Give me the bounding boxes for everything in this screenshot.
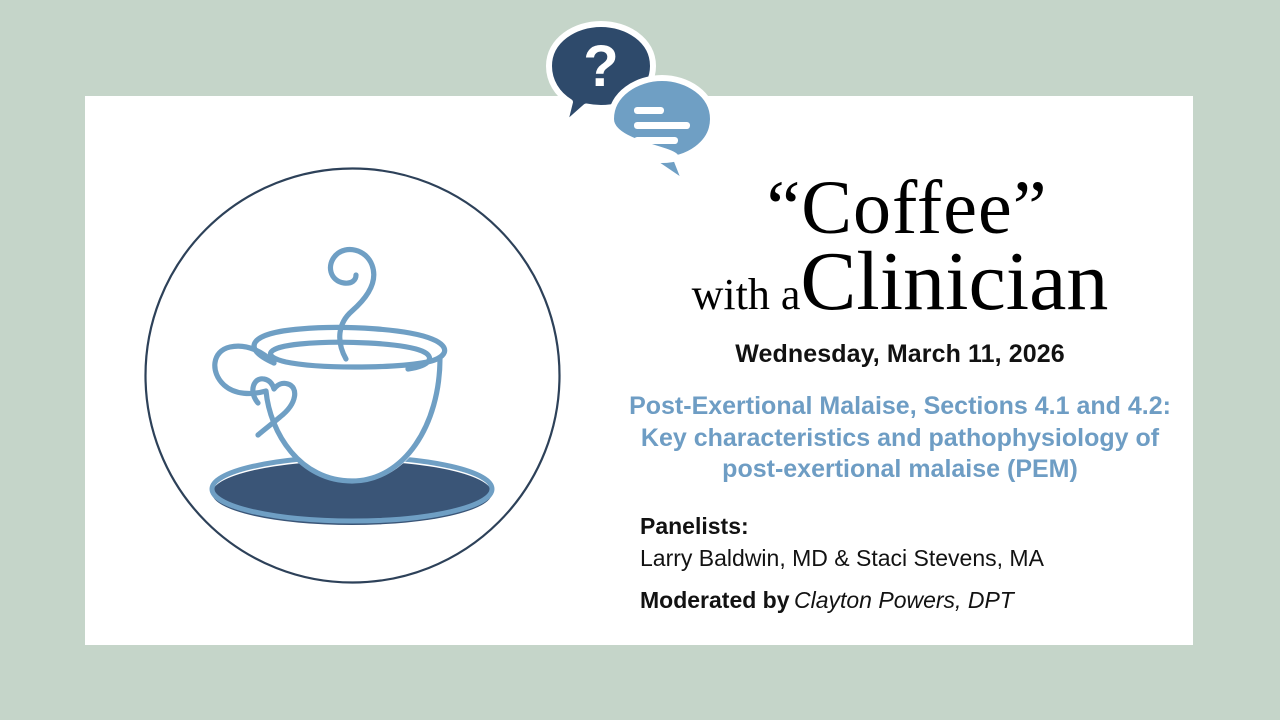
title-with-a-clinician: with aClinician (600, 240, 1200, 324)
panelists-label: Panelists: (640, 513, 749, 539)
lines-speech-bubble-icon (611, 78, 713, 184)
session-title-line-1: Post-Exertional Malaise, Sections 4.1 an… (600, 391, 1200, 423)
panelists-names-row: Larry Baldwin, MD & Staci Stevens, MA (640, 542, 1200, 575)
session-title-line-3: post-exertional malaise (PEM) (600, 454, 1200, 486)
moderator-name: Clayton Powers, DPT (794, 587, 1014, 613)
moderator-label: Moderated by (640, 587, 790, 613)
svg-text:?: ? (583, 34, 618, 99)
panelists-label-row: Panelists: (640, 510, 1200, 543)
coffee-cup-logo-icon (140, 163, 565, 588)
session-title: Post-Exertional Malaise, Sections 4.1 an… (600, 391, 1200, 486)
title-clinician: Clinician (800, 235, 1108, 328)
event-date: Wednesday, March 11, 2026 (600, 340, 1200, 369)
page-title: “Coffee” with aClinician (600, 170, 1200, 324)
panelists-names: Larry Baldwin, MD & Staci Stevens, MA (640, 545, 1044, 571)
slide-canvas: ? (0, 0, 1280, 720)
moderator-row: Moderated by Clayton Powers, DPT (640, 584, 1200, 617)
credits-block: Panelists: Larry Baldwin, MD & Staci Ste… (600, 510, 1200, 617)
session-title-line-2: Key characteristics and pathophysiology … (600, 423, 1200, 455)
title-with-a: with a (692, 270, 801, 319)
event-text-column: “Coffee” with aClinician Wednesday, Marc… (600, 170, 1200, 616)
